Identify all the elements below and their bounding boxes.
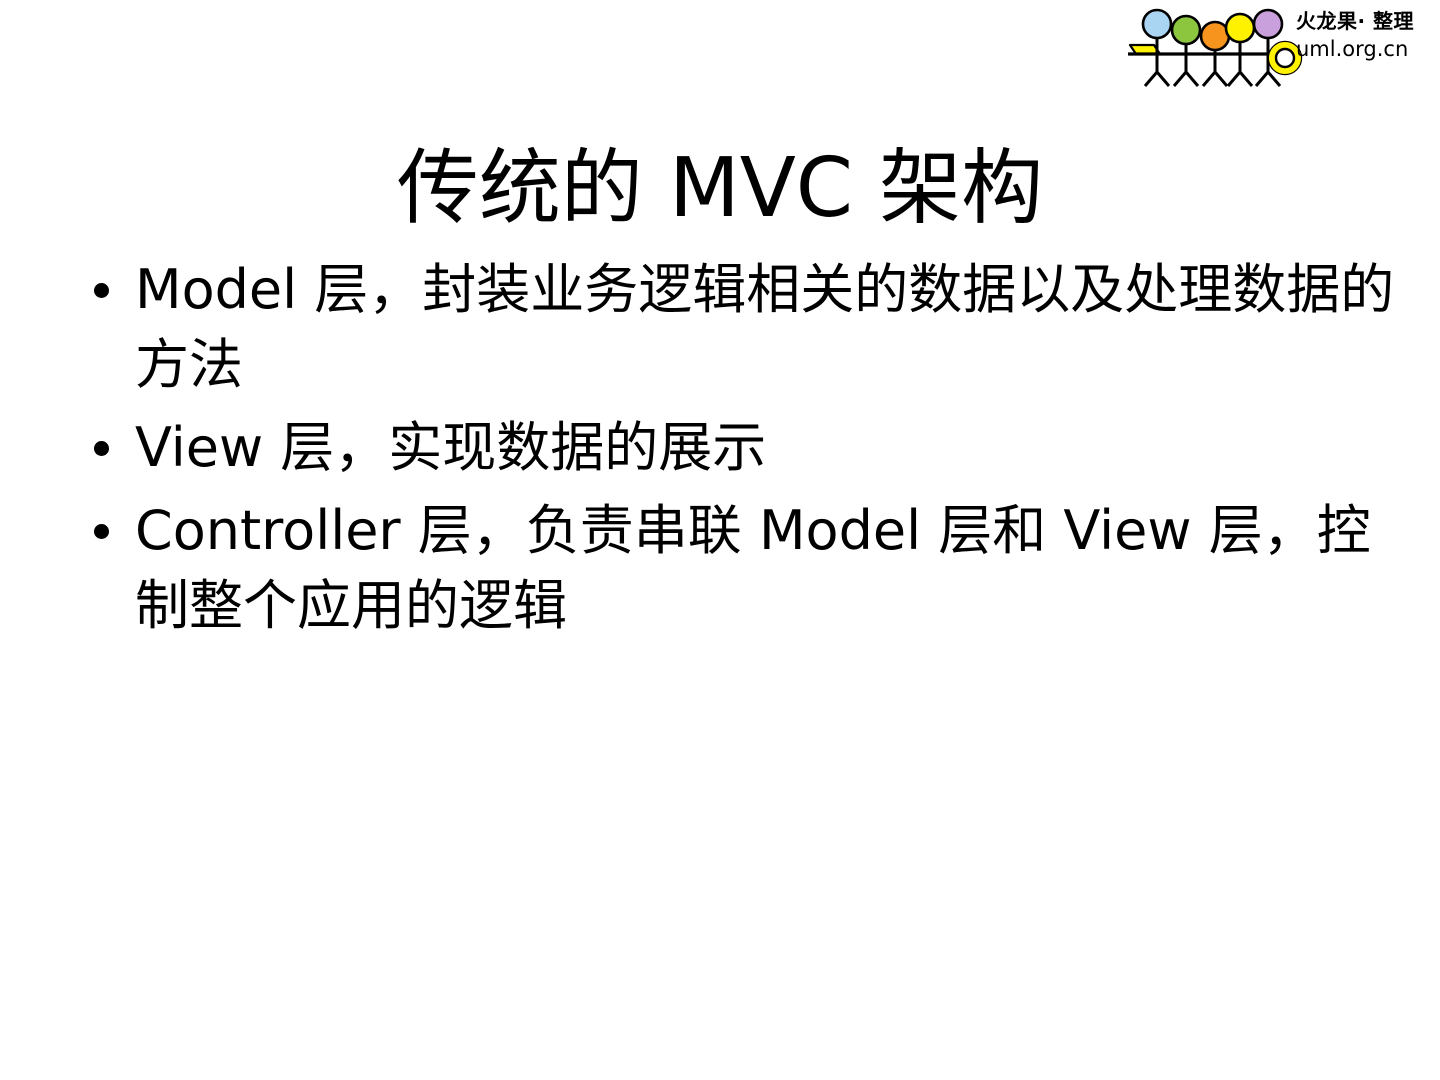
bullet-dot-icon [94,283,109,298]
bullet-list: Model 层，封装业务逻辑相关的数据以及处理数据的方法 View 层，实现数据… [78,252,1398,643]
list-item: Model 层，封装业务逻辑相关的数据以及处理数据的方法 [78,252,1398,402]
list-item-text: View 层，实现数据的展示 [135,410,1398,485]
brand-text-block: 火龙果· 整理 uml.org.cn [1296,8,1440,82]
list-item-text: Controller 层，负责串联 Model 层和 View 层，控制整个应用… [135,493,1398,643]
list-item-text: Model 层，封装业务逻辑相关的数据以及处理数据的方法 [135,252,1398,402]
brand-url: uml.org.cn [1296,36,1440,62]
brand-watermark: 火龙果· 整理 uml.org.cn [1128,0,1440,92]
bullet-dot-icon [94,524,109,539]
people-balloons-logo-icon [1128,4,1304,88]
list-item: Controller 层，负责串联 Model 层和 View 层，控制整个应用… [78,493,1398,643]
brand-name: 火龙果· 整理 [1296,8,1440,34]
page-title: 传统的 MVC 架构 [0,137,1440,241]
bullet-dot-icon [94,441,109,456]
list-item: View 层，实现数据的展示 [78,410,1398,485]
slide-canvas: 火龙果· 整理 uml.org.cn 传统的 MVC 架构 Model 层，封装… [0,0,1440,1080]
